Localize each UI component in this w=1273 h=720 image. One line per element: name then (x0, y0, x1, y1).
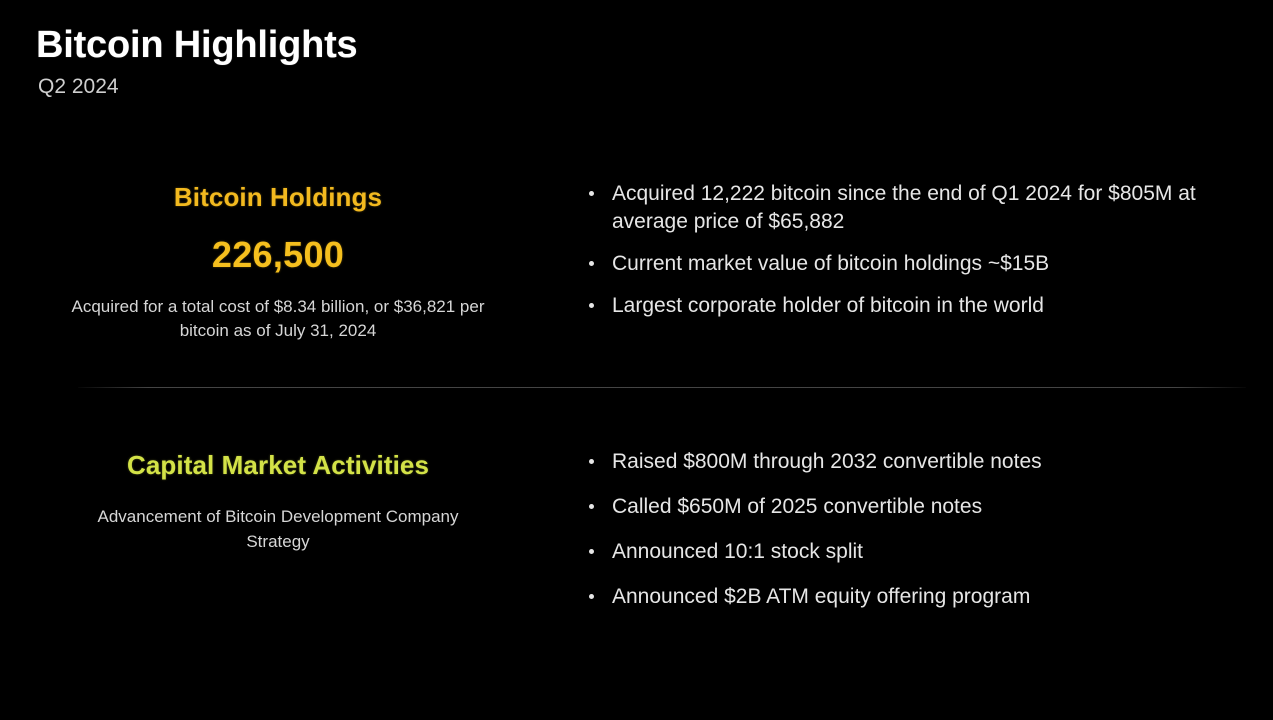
list-item: Called $650M of 2025 convertible notes (582, 493, 1232, 521)
list-item-label: Announced $2B ATM equity offering progra… (612, 585, 1030, 608)
bullet-dot-icon (589, 303, 594, 308)
capital-market-bullet-list: Raised $800M through 2032 convertible no… (582, 448, 1273, 611)
bullet-dot-icon (589, 191, 594, 196)
section-bitcoin-holdings-summary: Bitcoin Holdings 226,500 Acquired for a … (0, 180, 556, 344)
list-item: Announced 10:1 stock split (582, 538, 1232, 566)
list-item: Acquired 12,222 bitcoin since the end of… (582, 180, 1232, 236)
section-capital-market-activities: Capital Market Activities Advancement of… (0, 448, 1273, 628)
section-capital-market-details: Raised $800M through 2032 convertible no… (556, 448, 1273, 628)
bullet-dot-icon (589, 261, 594, 266)
list-item-label: Acquired 12,222 bitcoin since the end of… (612, 182, 1196, 233)
list-item-label: Called $650M of 2025 convertible notes (612, 495, 982, 518)
page-title: Bitcoin Highlights (36, 24, 357, 68)
list-item-label: Raised $800M through 2032 convertible no… (612, 450, 1042, 473)
bullet-dot-icon (589, 504, 594, 509)
capital-market-caption: Advancement of Bitcoin Development Compa… (78, 505, 478, 554)
slide-header: Bitcoin Highlights Q2 2024 (36, 24, 357, 99)
bitcoin-holdings-caption: Acquired for a total cost of $8.34 billi… (63, 295, 493, 344)
section-bitcoin-holdings: Bitcoin Holdings 226,500 Acquired for a … (0, 180, 1273, 344)
bitcoin-holdings-value: 226,500 (0, 235, 556, 275)
section-heading-bitcoin-holdings: Bitcoin Holdings (0, 182, 556, 213)
list-item-label: Announced 10:1 stock split (612, 540, 863, 563)
bullet-dot-icon (589, 459, 594, 464)
section-divider (78, 387, 1246, 388)
list-item-label: Current market value of bitcoin holdings… (612, 252, 1049, 275)
list-item: Largest corporate holder of bitcoin in t… (582, 292, 1232, 320)
section-bitcoin-holdings-details: Acquired 12,222 bitcoin since the end of… (556, 180, 1273, 320)
bullet-dot-icon (589, 594, 594, 599)
section-heading-capital-market-activities: Capital Market Activities (0, 450, 556, 481)
bitcoin-holdings-bullet-list: Acquired 12,222 bitcoin since the end of… (582, 180, 1273, 320)
list-item-label: Largest corporate holder of bitcoin in t… (612, 294, 1044, 317)
list-item: Current market value of bitcoin holdings… (582, 250, 1232, 278)
bullet-dot-icon (589, 549, 594, 554)
page-subtitle: Q2 2024 (38, 74, 357, 99)
section-capital-market-summary: Capital Market Activities Advancement of… (0, 448, 556, 554)
list-item: Raised $800M through 2032 convertible no… (582, 448, 1232, 476)
list-item: Announced $2B ATM equity offering progra… (582, 583, 1232, 611)
